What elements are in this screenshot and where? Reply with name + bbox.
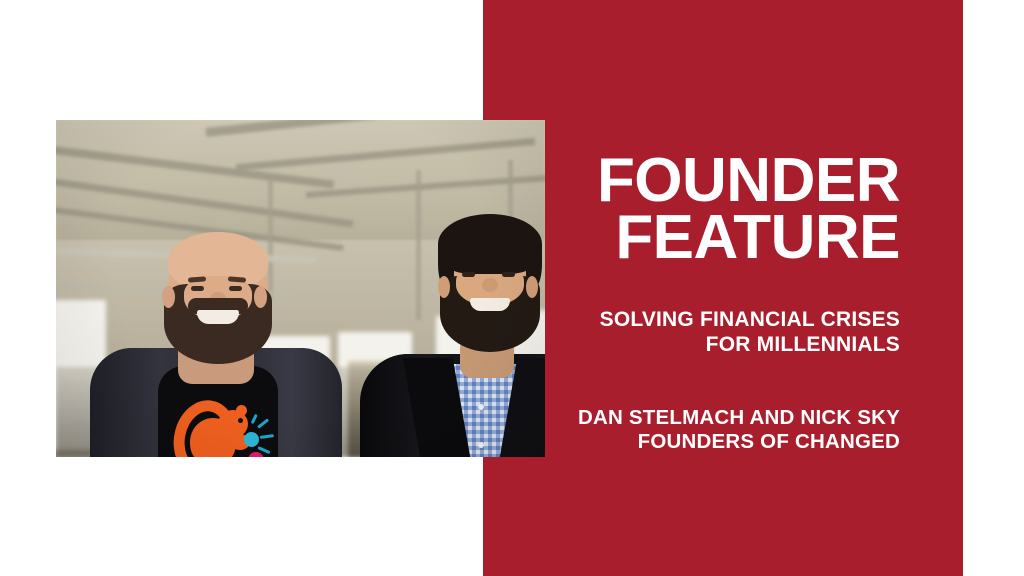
right-smile bbox=[470, 298, 510, 311]
shirt-button bbox=[478, 404, 484, 410]
founder-left: CHANGED bbox=[96, 198, 336, 457]
left-eye bbox=[229, 286, 242, 291]
shirt-button bbox=[478, 442, 484, 448]
subheadline-line-1: SOLVING FINANCIAL CRISES bbox=[540, 308, 900, 333]
right-ear bbox=[438, 276, 450, 298]
left-smile bbox=[197, 310, 239, 324]
right-eye bbox=[462, 272, 475, 277]
headline-line-2: FEATURE bbox=[540, 209, 900, 266]
right-hair bbox=[438, 214, 542, 274]
subheadline: SOLVING FINANCIAL CRISES FOR MILLENNIALS bbox=[540, 308, 900, 358]
page-title: FOUNDER FEATURE bbox=[540, 152, 900, 266]
left-ear bbox=[254, 286, 267, 308]
founder-right bbox=[356, 168, 545, 457]
left-ear bbox=[162, 286, 175, 308]
squirrel-icon bbox=[174, 396, 266, 457]
left-eye bbox=[191, 286, 204, 291]
credit-role: FOUNDERS OF CHANGED bbox=[540, 430, 900, 454]
squirrel-eye bbox=[238, 418, 243, 423]
founders-photo: CHANGED bbox=[56, 120, 545, 457]
credit-block: DAN STELMACH AND NICK SKY FOUNDERS OF CH… bbox=[540, 406, 900, 454]
photo-content: CHANGED bbox=[56, 120, 545, 457]
sparkle-ray bbox=[251, 414, 258, 424]
slide-canvas: CHANGED FOUNDER FEATURE SOLVING FINANCIA… bbox=[0, 0, 1024, 576]
right-ear bbox=[526, 276, 538, 298]
headline-line-1: FOUNDER bbox=[540, 152, 900, 209]
subheadline-line-2: FOR MILLENNIALS bbox=[540, 333, 900, 358]
right-eye bbox=[502, 272, 515, 277]
right-nose bbox=[482, 278, 498, 292]
text-block: FOUNDER FEATURE SOLVING FINANCIAL CRISES… bbox=[540, 0, 900, 576]
coin-icon bbox=[244, 432, 259, 447]
credit-names: DAN STELMACH AND NICK SKY bbox=[540, 406, 900, 430]
squirrel-ear bbox=[236, 405, 247, 416]
